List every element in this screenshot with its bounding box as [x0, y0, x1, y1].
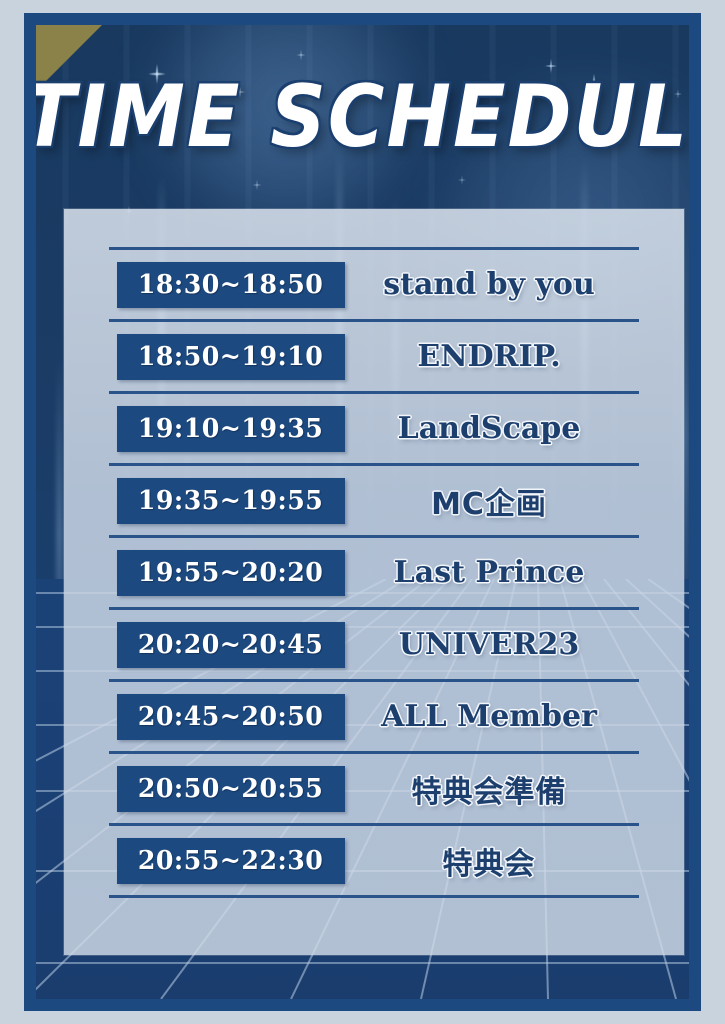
time-badge: 20:20~20:45 — [117, 622, 345, 668]
table-row: 20:45~20:50ALL Member — [109, 682, 639, 751]
time-badge: 19:35~19:55 — [117, 478, 345, 524]
table-row: 18:50~19:10ENDRIP. — [109, 322, 639, 391]
time-label: 20:20~20:45 — [138, 630, 323, 660]
time-badge: 19:55~20:20 — [117, 550, 345, 596]
time-badge: 20:45~20:50 — [117, 694, 345, 740]
time-badge: 20:55~22:30 — [117, 838, 345, 884]
table-row: 20:20~20:45UNIVER23 — [109, 610, 639, 679]
time-label: 19:10~19:35 — [138, 414, 323, 444]
time-label: 19:55~20:20 — [138, 558, 323, 588]
table-row: 19:35~19:55MC企画 — [109, 466, 639, 535]
act-label: MC企画 — [345, 479, 639, 523]
time-label: 20:50~20:55 — [138, 774, 323, 804]
act-label: stand by you — [345, 267, 639, 302]
act-label: UNIVER23 — [345, 627, 639, 662]
poster-frame: TIME SCHEDULE 18:30~18:50stand by you18:… — [24, 13, 701, 1011]
schedule-table: 18:30~18:50stand by you18:50~19:10ENDRIP… — [109, 247, 639, 898]
time-label: 18:50~19:10 — [138, 342, 323, 372]
table-row: 18:30~18:50stand by you — [109, 250, 639, 319]
row-separator — [109, 895, 639, 898]
table-row: 19:10~19:35LandScape — [109, 394, 639, 463]
time-badge: 18:30~18:50 — [117, 262, 345, 308]
table-row: 20:55~22:30特典会 — [109, 826, 639, 895]
act-label: ALL Member — [345, 699, 639, 734]
act-label: 特典会準備 — [345, 767, 639, 811]
page-title: TIME SCHEDULE — [36, 67, 689, 167]
time-badge: 18:50~19:10 — [117, 334, 345, 380]
act-label: LandScape — [345, 411, 639, 446]
act-label: Last Prince — [345, 555, 639, 590]
time-label: 18:30~18:50 — [138, 270, 323, 300]
poster-canvas: TIME SCHEDULE 18:30~18:50stand by you18:… — [36, 25, 689, 999]
time-label: 19:35~19:55 — [138, 486, 323, 516]
table-row: 20:50~20:55特典会準備 — [109, 754, 639, 823]
time-label: 20:45~20:50 — [138, 702, 323, 732]
time-label: 20:55~22:30 — [138, 846, 323, 876]
schedule-panel: 18:30~18:50stand by you18:50~19:10ENDRIP… — [64, 209, 684, 955]
time-badge: 19:10~19:35 — [117, 406, 345, 452]
time-schedule-poster: TIME SCHEDULE 18:30~18:50stand by you18:… — [0, 0, 725, 1024]
time-badge: 20:50~20:55 — [117, 766, 345, 812]
act-label: 特典会 — [345, 839, 639, 883]
table-row: 19:55~20:20Last Prince — [109, 538, 639, 607]
act-label: ENDRIP. — [345, 339, 639, 374]
